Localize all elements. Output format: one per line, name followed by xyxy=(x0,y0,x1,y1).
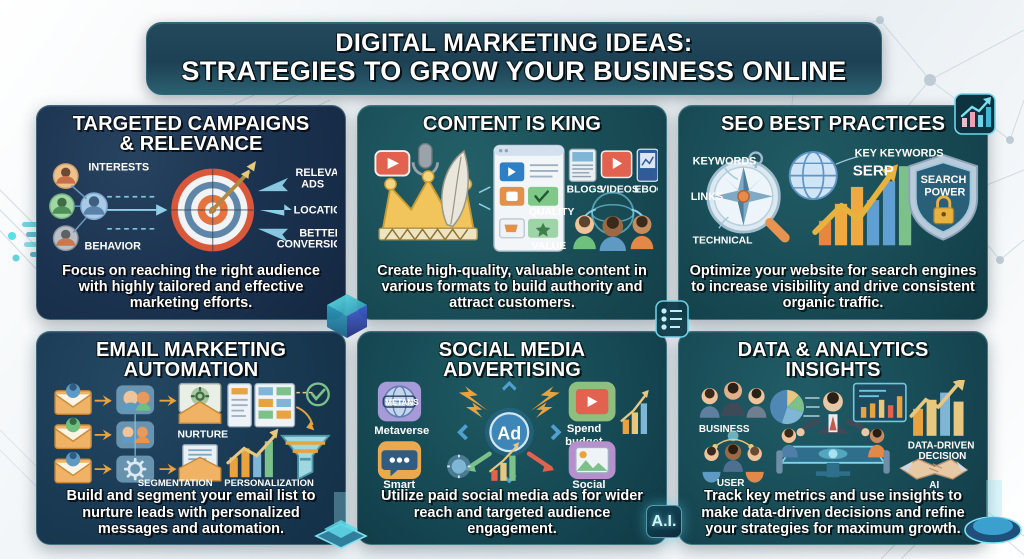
label-conversions: CONVERSIONS xyxy=(277,238,337,250)
card-title: TARGETED CAMPAIGNS & RELEVANCE xyxy=(45,113,337,155)
label-quality: QUALITY xyxy=(529,208,575,219)
card-title: CONTENT IS KING xyxy=(366,113,658,134)
card-title-line-1: SOCIAL MEDIA xyxy=(368,340,656,360)
card-content-is-king[interactable]: CONTENT IS KING xyxy=(357,105,667,320)
card-seo-best-practices[interactable]: SEO BEST PRACTICES xyxy=(678,105,988,320)
card-description: Optimize your website for search engines… xyxy=(687,263,979,313)
search-power-shield-icon: SEARCH POWER xyxy=(909,155,977,240)
meeting-table-icon xyxy=(776,429,889,478)
flow-arrows-1 xyxy=(95,396,112,475)
audience-people xyxy=(573,193,653,251)
flow-arrows-2 xyxy=(159,396,176,475)
video-tile-icon xyxy=(569,382,616,422)
label-key-keywords: KEY KEYWORDS xyxy=(855,148,944,160)
outgoing-arrows xyxy=(258,178,292,242)
card-description: Utilize paid social media ads for wider … xyxy=(366,488,658,538)
card-social-media-advertising[interactable]: SOCIAL MEDIA ADVERTISING METANS Metavers… xyxy=(357,331,667,546)
content-panel: QUALITY VALUE xyxy=(494,146,574,253)
label-social: Social xyxy=(572,479,605,488)
format-tiles: BLOGS VIDEOS EBOOKS xyxy=(567,150,658,196)
label-ebooks: EBOOKS xyxy=(634,185,658,196)
page-title-line-1: DIGITAL MARKETING IDEAS: xyxy=(335,30,692,57)
label-metans: METANS xyxy=(385,398,419,407)
card-artwork-social: METANS Metaverse Smart Ad xyxy=(366,380,658,488)
business-team-icons xyxy=(700,382,767,418)
pie-chart-icon xyxy=(770,390,819,424)
label-search: SEARCH xyxy=(921,175,967,187)
globe-icon xyxy=(790,152,837,199)
label-personalization: PERSONALIZATION xyxy=(224,478,314,488)
label-business: BUSINESS xyxy=(699,424,750,435)
card-data-analytics-insights[interactable]: DATA & ANALYTICS INSIGHTS BUSINESS xyxy=(678,331,988,546)
dashboard-icon xyxy=(228,384,295,427)
nurture-envelope-icon xyxy=(179,384,220,424)
infographic-root: DIGITAL MARKETING IDEAS: STRATEGIES TO G… xyxy=(0,0,1024,559)
card-artwork-seo: SEARCH POWER KEYWORDS LINKS TECHNICAL KE… xyxy=(687,134,979,262)
growth-chart-right xyxy=(621,390,649,434)
label-links: LINKS xyxy=(691,191,724,203)
label-decision: DECISION xyxy=(919,451,967,462)
growth-chart-small xyxy=(228,429,278,478)
card-title-line-1: TARGETED CAMPAIGNS xyxy=(47,114,335,134)
label-metaverse: Metaverse xyxy=(374,425,429,437)
label-technical: TECHNICAL xyxy=(693,236,754,247)
cards-grid: TARGETED CAMPAIGNS & RELEVANCE xyxy=(36,105,988,545)
envelope-icons xyxy=(55,384,91,483)
label-location: LOCATION xyxy=(294,204,337,216)
label-smart: Smart xyxy=(383,479,415,488)
card-email-marketing-automation[interactable]: EMAIL MARKETING AUTOMATION xyxy=(36,331,346,546)
growth-chart-big xyxy=(911,380,965,436)
card-title: SEO BEST PRACTICES xyxy=(687,113,979,134)
funnel-icon xyxy=(282,436,329,479)
persona-icons xyxy=(50,164,107,251)
label-ai: AI xyxy=(929,480,939,488)
card-title-line-2: INSIGHTS xyxy=(689,360,977,380)
card-title: EMAIL MARKETING AUTOMATION xyxy=(45,339,337,381)
label-segmentation: SEGMENTATION xyxy=(138,478,213,488)
card-title-line-2: AUTOMATION xyxy=(47,360,335,380)
card-title-line-1: EMAIL MARKETING xyxy=(47,340,335,360)
label-interests: INTERESTS xyxy=(88,161,149,173)
card-title-line-2: & RELEVANCE xyxy=(47,134,335,154)
analytics-screen-icon xyxy=(854,384,906,422)
card-title: DATA & ANALYTICS INSIGHTS xyxy=(687,339,979,381)
label-spend: Spend xyxy=(567,423,602,435)
label-relevant: RELEVANT xyxy=(296,167,337,179)
ad-hub-icon: Ad xyxy=(485,408,534,457)
card-artwork-analytics: BUSINESS USER xyxy=(687,380,979,488)
page-title-banner: DIGITAL MARKETING IDEAS: STRATEGIES TO G… xyxy=(146,22,882,95)
label-value: VALUE xyxy=(532,241,566,252)
label-data-driven: DATA-DRIVEN xyxy=(908,441,975,452)
label-user: USER xyxy=(717,478,744,488)
label-serp: SERP xyxy=(853,163,894,180)
label-power: POWER xyxy=(924,187,965,199)
card-title-line-1: SEO BEST PRACTICES xyxy=(689,114,977,134)
card-description: Focus on reaching the right audience wit… xyxy=(45,263,337,313)
segmentation-envelope-icon xyxy=(179,445,220,481)
card-targeted-campaigns[interactable]: TARGETED CAMPAIGNS & RELEVANCE xyxy=(36,105,346,320)
glowing-platform-decoration-2 xyxy=(962,480,1024,550)
video-icon xyxy=(375,151,409,175)
ai-badge: A.I. xyxy=(646,505,682,538)
label-behavior: BEHAVIOR xyxy=(85,240,142,252)
user-group-icons xyxy=(702,431,763,483)
card-title: SOCIAL MEDIA ADVERTISING xyxy=(366,339,658,381)
checklist-badge-decoration xyxy=(652,298,692,340)
growth-chart-badge-decoration xyxy=(953,92,997,136)
label-blogs: BLOGS xyxy=(567,185,604,196)
label-better: BETTER xyxy=(299,227,337,239)
page-title-line-2: STRATEGIES TO GROW YOUR BUSINESS ONLINE xyxy=(181,57,846,86)
glowing-cube-decoration xyxy=(322,288,372,344)
card-artwork-email: NURTURE xyxy=(45,380,337,488)
card-description: Create high-quality, valuable content in… xyxy=(366,263,658,313)
card-artwork-content: QUALITY VALUE BLOGS VIDEOS xyxy=(366,134,658,262)
label-ad: Ad xyxy=(497,424,521,444)
card-artwork-targeting: INTERESTS BEHAVIOR RELEVANT ADS LOCATION… xyxy=(45,155,337,263)
check-circle-icon xyxy=(307,384,329,406)
card-description: Track key metrics and use insights to ma… xyxy=(687,488,979,538)
label-keywords: KEYWORDS xyxy=(693,156,757,168)
smart-chat-icon xyxy=(378,441,421,479)
card-title-line-1: DATA & ANALYTICS xyxy=(689,340,977,360)
social-image-icon xyxy=(569,441,616,479)
card-title-line-2: ADVERTISING xyxy=(368,360,656,380)
label-ads: ADS xyxy=(301,178,324,190)
card-title-line-1: CONTENT IS KING xyxy=(368,114,656,134)
glowing-platform-decoration-1 xyxy=(312,492,370,554)
label-nurture: NURTURE xyxy=(177,430,228,441)
card-description: Build and segment your email list to nur… xyxy=(45,488,337,538)
metaverse-icon: METANS xyxy=(378,382,421,422)
